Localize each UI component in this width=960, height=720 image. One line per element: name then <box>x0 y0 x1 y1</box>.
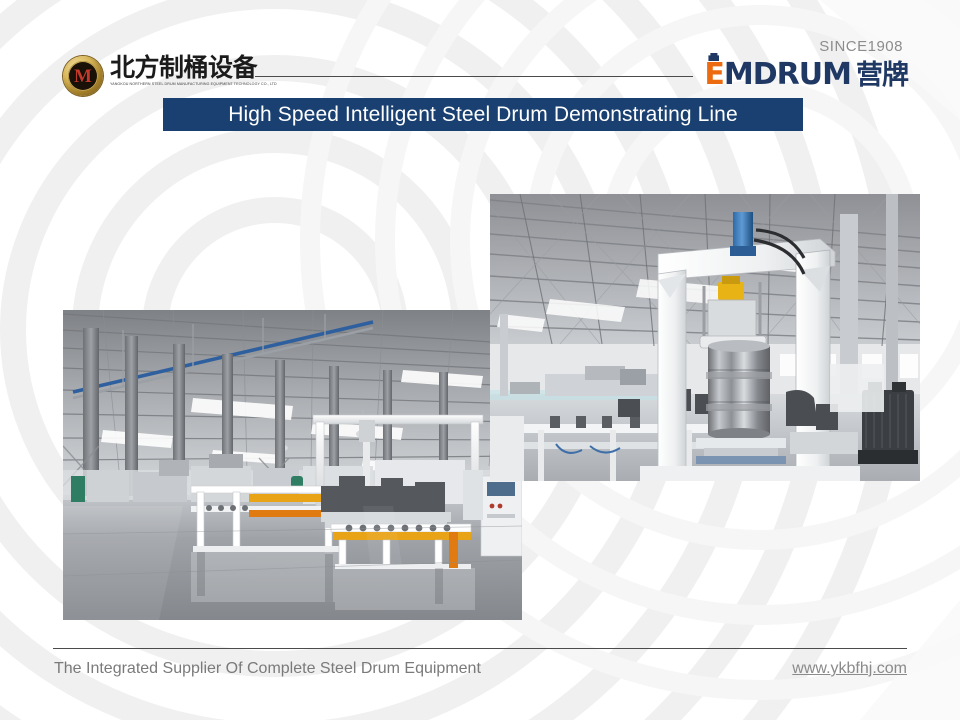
company-name-chinese: 北方制桶设备 <box>110 55 277 81</box>
seal-letter: M <box>63 56 103 96</box>
brand-logo: E MDRUM 营牌 <box>704 60 908 91</box>
brand-initial-wrap: E <box>704 60 724 90</box>
page-title: High Speed Intelligent Steel Drum Demons… <box>228 104 737 126</box>
slide-canvas: M 北方制桶设备 YANGKOU NORTHERN STEEL DRUM MAN… <box>0 0 960 720</box>
company-name-english: YANGKOU NORTHERN STEEL DRUM MANUFACTURIN… <box>110 82 277 87</box>
footer-website-link[interactable]: www.ykbfhj.com <box>792 659 907 679</box>
header-divider <box>255 76 693 77</box>
footer-divider <box>53 648 907 649</box>
brand-name: MDRUM <box>724 60 851 90</box>
footer-tagline: The Integrated Supplier Of Complete Stee… <box>54 659 481 679</box>
since-label: SINCE1908 <box>819 38 903 55</box>
company-logo-text: 北方制桶设备 YANGKOU NORTHERN STEEL DRUM MANUF… <box>110 55 277 87</box>
seal-emblem-icon: M <box>63 56 103 96</box>
photo-steel-drum-machine <box>490 194 920 481</box>
drum-cap-icon <box>708 53 719 61</box>
brand-name-chinese: 营牌 <box>856 61 908 91</box>
slide-title-bar: High Speed Intelligent Steel Drum Demons… <box>163 98 803 131</box>
company-logo: M 北方制桶设备 YANGKOU NORTHERN STEEL DRUM MAN… <box>63 55 277 96</box>
brand-initial: E <box>704 57 724 92</box>
photo-factory-line <box>63 310 522 620</box>
